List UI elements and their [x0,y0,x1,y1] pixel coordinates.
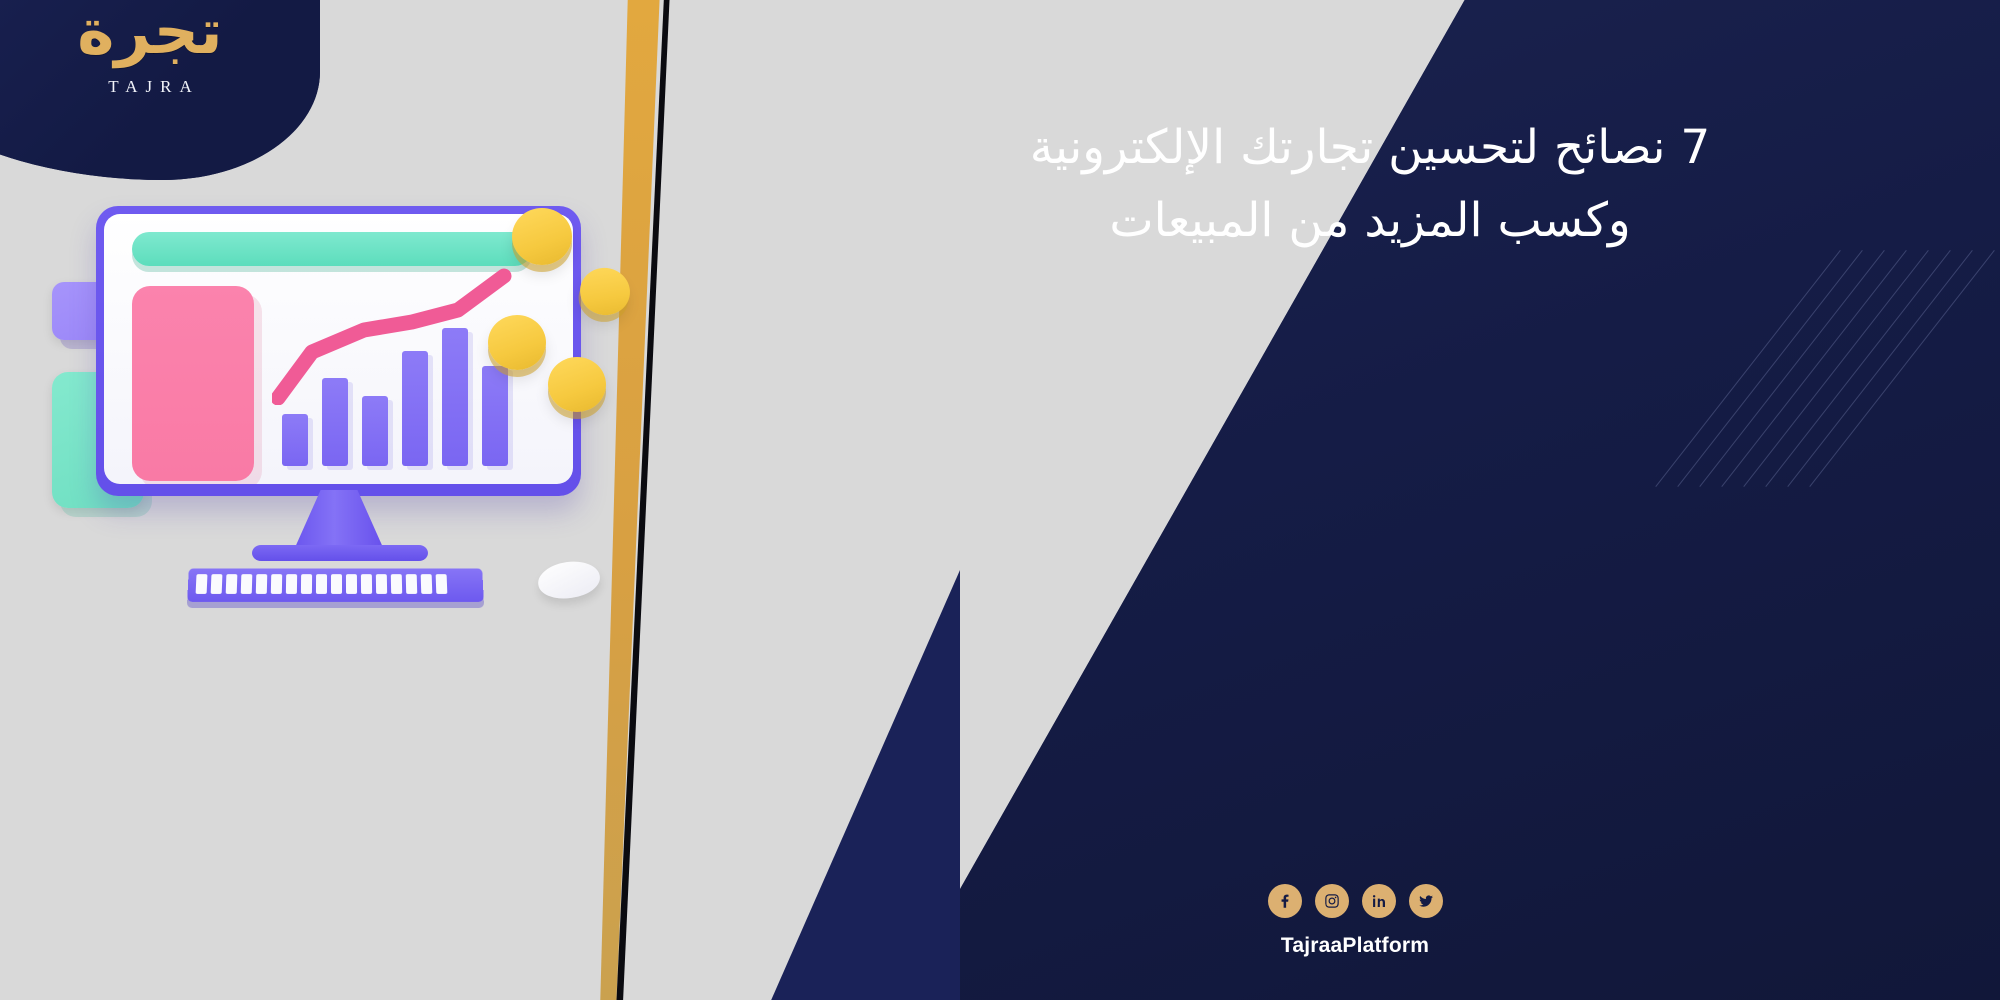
monitor-stand-foot [252,545,428,561]
headline-line-2: وكسب المزيد من المبيعات [810,185,1930,258]
brand-handle: TajraaPlatform [1281,934,1429,958]
gold-coin-icon [548,357,606,412]
gold-coin-icon [512,208,572,265]
bar-5 [442,328,468,466]
bar-1 [282,414,308,466]
logo-latin-wordmark: TAJRA [100,77,200,97]
headline: 7 نصائح لتحسين تجارتك الإلكترونية وكسب ا… [810,112,1930,258]
gold-coin-icon [488,315,546,370]
logo-arabic-wordmark: تجرة [77,0,222,63]
headline-line-1: 7 نصائح لتحسين تجارتك الإلكترونية [810,112,1930,185]
twitter-icon[interactable] [1409,884,1443,918]
monitor-stand [293,490,385,552]
linkedin-icon[interactable] [1362,884,1396,918]
bar-4 [402,351,428,466]
facebook-icon[interactable] [1268,884,1302,918]
instagram-icon[interactable] [1315,884,1349,918]
bar-6 [482,366,508,466]
mouse-3d [536,558,602,602]
bar-chart-group [282,296,517,466]
keyboard-3d [187,568,484,602]
bar-3 [362,396,388,466]
bar-2 [322,378,348,466]
diagonal-hairlines-decoration [1840,250,2000,480]
screen-pink-panel [132,286,254,481]
logo-badge: تجرة TAJRA [0,0,320,180]
poster-canvas: تجرة TAJRA 7 نصائح لتحسين تجارتك الإلكتر… [0,0,2000,1000]
gold-coin-icon [576,263,635,319]
footer: TajraaPlatform [710,884,2000,958]
social-links-row [1268,884,1443,918]
ecommerce-analytics-3d-illustration [40,190,680,620]
brand-logo: تجرة TAJRA [0,0,300,160]
